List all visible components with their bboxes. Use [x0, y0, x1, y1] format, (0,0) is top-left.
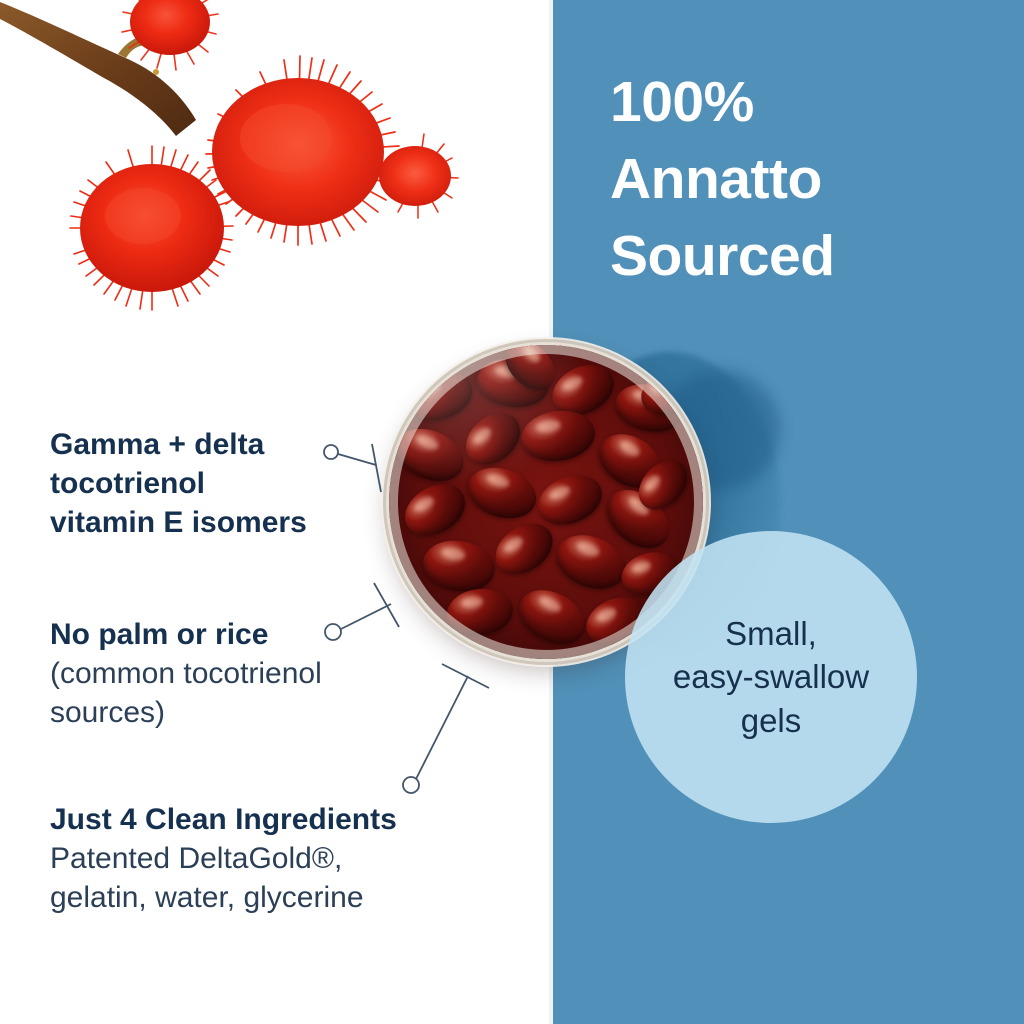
callout-gamma-delta: Gamma + delta tocotrienol vitamin E isom… — [50, 425, 380, 542]
annatto-pod-lower — [70, 146, 233, 310]
product-infographic: 100% Annatto Sourced — [0, 0, 1024, 1024]
callout-3-line-2: gelatin, water, glycerine — [50, 878, 510, 917]
callout-2-line-2: sources) — [50, 693, 410, 732]
callout-no-palm-or-rice: No palm or rice (common tocotrienol sour… — [50, 615, 410, 732]
callout-2-heading: No palm or rice — [50, 615, 410, 654]
callout-3-line-1: Patented DeltaGold®, — [50, 839, 510, 878]
gel-badge-line-2: easy-swallow — [636, 655, 906, 699]
headline-line-3: Sourced — [610, 218, 1010, 295]
annatto-pod-top — [122, 0, 218, 70]
callout-1-line-1: Gamma + delta — [50, 425, 380, 464]
gel-badge-circle: Small, easy-swallow gels — [625, 531, 917, 823]
gel-badge-line-3: gels — [636, 699, 906, 743]
gel-badge-text: Small, easy-swallow gels — [636, 612, 906, 743]
callout-1-line-2: tocotrienol — [50, 464, 380, 503]
headline-line-1: 100% — [610, 64, 1010, 141]
headline-line-2: Annatto — [610, 141, 1010, 218]
gel-badge-line-1: Small, — [636, 612, 906, 656]
callout-3-heading: Just 4 Clean Ingredients — [50, 800, 510, 839]
callout-1-line-3: vitamin E isomers — [50, 503, 380, 542]
annatto-pods-image — [0, 0, 470, 330]
callout-2-line-1: (common tocotrienol — [50, 654, 410, 693]
annatto-pod-large — [206, 56, 399, 245]
page-title: 100% Annatto Sourced — [610, 64, 1010, 295]
leader-line-3 — [403, 664, 489, 793]
callout-clean-ingredients: Just 4 Clean Ingredients Patented DeltaG… — [50, 800, 510, 917]
